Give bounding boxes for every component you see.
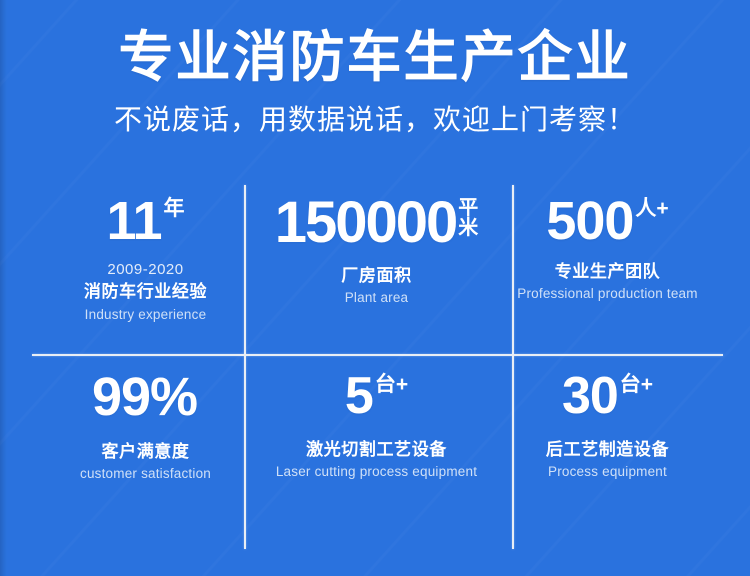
stat-cell-industry-experience: 11 年 2009-2020 消防车行业经验 Industry experien… bbox=[30, 177, 261, 349]
stat-label-en: Laser cutting process equipment bbox=[276, 463, 477, 482]
stat-label-en: Process equipment bbox=[546, 463, 669, 482]
stat-label-en: customer satisfaction bbox=[80, 465, 211, 484]
stat-label-cn: 专业生产团队 bbox=[517, 260, 697, 285]
stat-label-block: 激光切割工艺设备 Laser cutting process equipment bbox=[276, 438, 477, 483]
stat-label-en: Professional production team bbox=[517, 285, 697, 304]
stat-label-cn: 后工艺制造设备 bbox=[546, 438, 669, 463]
banner-header: 专业消防车生产企业 不说废话，用数据说话，欢迎上门考察！ bbox=[0, 0, 750, 137]
stat-year-range: 2009-2020 bbox=[84, 260, 207, 280]
stat-label-block: 专业生产团队 Professional production team bbox=[517, 260, 697, 305]
stat-number: 500 bbox=[546, 195, 633, 248]
page-subtitle: 不说废话，用数据说话，欢迎上门考察！ bbox=[0, 103, 750, 137]
stat-number: 99% bbox=[92, 371, 197, 424]
stat-cell-plant-area: 150000 平 米 厂房面积 Plant area bbox=[261, 177, 492, 349]
stat-number: 30 bbox=[562, 371, 618, 422]
stat-unit: 台+ bbox=[620, 374, 653, 395]
stat-cell-customer-satisfaction: 99% 客户满意度 customer satisfaction bbox=[30, 349, 261, 521]
stat-cell-laser-cutting-equipment: 5 台+ 激光切割工艺设备 Laser cutting process equi… bbox=[261, 349, 492, 521]
stat-unit: 台+ bbox=[375, 374, 408, 395]
stat-unit: 年 bbox=[164, 198, 185, 219]
promo-banner: 专业消防车生产企业 不说废话，用数据说话，欢迎上门考察！ 11 年 2009-2… bbox=[0, 0, 750, 576]
stat-label-block: 后工艺制造设备 Process equipment bbox=[546, 438, 669, 483]
stat-label-block: 2009-2020 消防车行业经验 Industry experience bbox=[84, 260, 207, 325]
stat-number-row: 5 台+ bbox=[345, 371, 408, 422]
stat-label-cn: 消防车行业经验 bbox=[84, 280, 207, 305]
stat-number: 150000 bbox=[275, 195, 457, 252]
stat-label-block: 客户满意度 customer satisfaction bbox=[80, 440, 211, 485]
stats-grid: 11 年 2009-2020 消防车行业经验 Industry experien… bbox=[30, 177, 723, 521]
stat-label-en: Plant area bbox=[341, 289, 411, 308]
stat-unit: 人+ bbox=[635, 198, 668, 219]
stat-number: 5 bbox=[345, 371, 373, 422]
stat-label-cn: 激光切割工艺设备 bbox=[276, 438, 477, 463]
stat-number-row: 500 人+ bbox=[546, 195, 668, 248]
stat-label-block: 厂房面积 Plant area bbox=[341, 264, 411, 309]
stat-number-row: 11 年 bbox=[106, 195, 184, 248]
stat-number: 11 bbox=[106, 195, 161, 248]
stat-label-cn: 厂房面积 bbox=[341, 264, 411, 289]
stat-number-row: 150000 平 米 bbox=[275, 195, 479, 252]
stat-cell-process-equipment: 30 台+ 后工艺制造设备 Process equipment bbox=[492, 349, 723, 521]
stat-label-cn: 客户满意度 bbox=[80, 440, 211, 465]
stat-cell-production-team: 500 人+ 专业生产团队 Professional production te… bbox=[492, 177, 723, 349]
stat-number-row: 99% bbox=[92, 371, 199, 424]
stat-label-en: Industry experience bbox=[84, 306, 207, 325]
stat-number-row: 30 台+ bbox=[562, 371, 653, 422]
page-title: 专业消防车生产企业 bbox=[0, 28, 750, 86]
stat-unit: 平 米 bbox=[458, 198, 478, 238]
